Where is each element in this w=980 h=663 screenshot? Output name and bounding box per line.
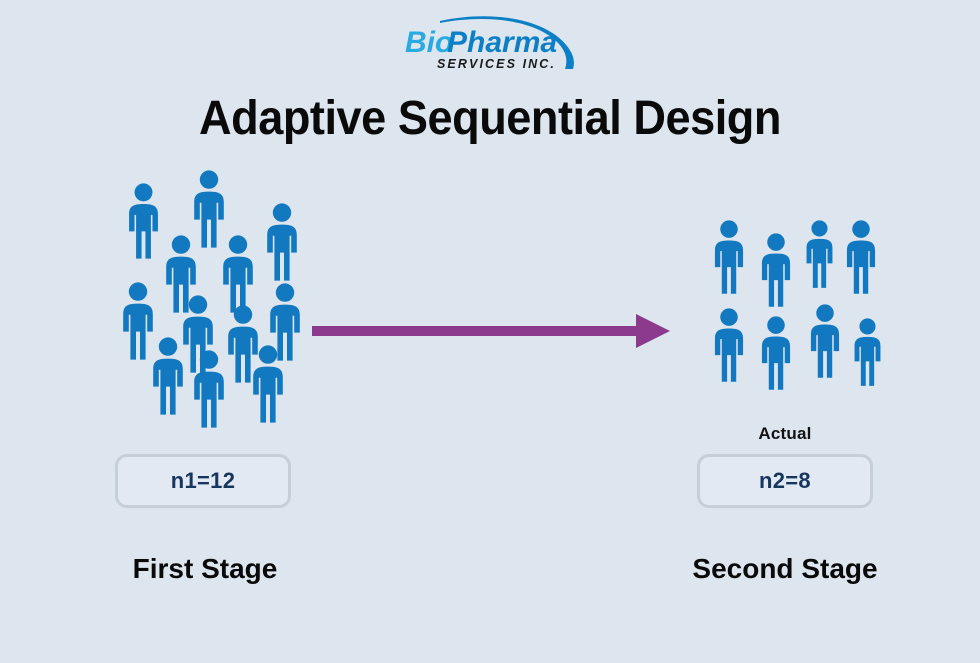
person-icon <box>715 220 743 293</box>
arrow-right-icon <box>312 314 670 348</box>
second-stage-people-group <box>700 220 880 385</box>
second-stage-caption: Second Stage <box>640 553 930 585</box>
person-icon <box>755 233 797 309</box>
person-icon <box>800 220 839 290</box>
person-icon <box>129 183 158 258</box>
person-icon <box>223 235 253 312</box>
person-icon <box>847 220 875 293</box>
person-icon <box>187 350 231 430</box>
person-icon <box>216 235 260 315</box>
person-icon <box>755 316 797 392</box>
person-icon <box>708 220 750 296</box>
first-stage-caption: First Stage <box>60 553 350 585</box>
actual-label: Actual <box>697 424 873 444</box>
person-icon <box>708 308 750 384</box>
second-stage-n-box[interactable]: n2=8 <box>697 454 873 508</box>
person-icon <box>762 316 790 389</box>
logo-pharma-text: Pharma <box>447 26 557 59</box>
person-icon <box>848 318 887 388</box>
person-icon <box>153 337 183 414</box>
person-icon <box>194 350 224 427</box>
first-stage-n-value: n1=12 <box>171 468 236 494</box>
biopharma-services-logo: Bio Pharma SERVICES INC. <box>395 12 590 74</box>
person-icon <box>246 345 290 425</box>
logo-tagline-text: SERVICES INC. <box>437 57 556 71</box>
first-stage-people-group <box>108 165 308 415</box>
person-icon <box>715 308 743 381</box>
person-icon <box>855 318 881 386</box>
person-icon <box>811 304 839 377</box>
page-title: Adaptive Sequential Design <box>29 90 950 148</box>
person-icon <box>840 220 882 296</box>
person-icon <box>807 220 833 288</box>
slide-canvas: Bio Pharma SERVICES INC. Adaptive Sequen… <box>0 0 980 663</box>
person-icon <box>260 203 304 283</box>
person-icon <box>146 337 190 417</box>
person-icon <box>762 233 790 306</box>
stage-transition-arrow <box>312 310 672 354</box>
person-icon <box>253 345 283 422</box>
second-stage-n-value: n2=8 <box>759 468 811 494</box>
first-stage-n-box[interactable]: n1=12 <box>115 454 291 508</box>
person-icon <box>267 203 297 280</box>
person-icon <box>804 304 846 380</box>
